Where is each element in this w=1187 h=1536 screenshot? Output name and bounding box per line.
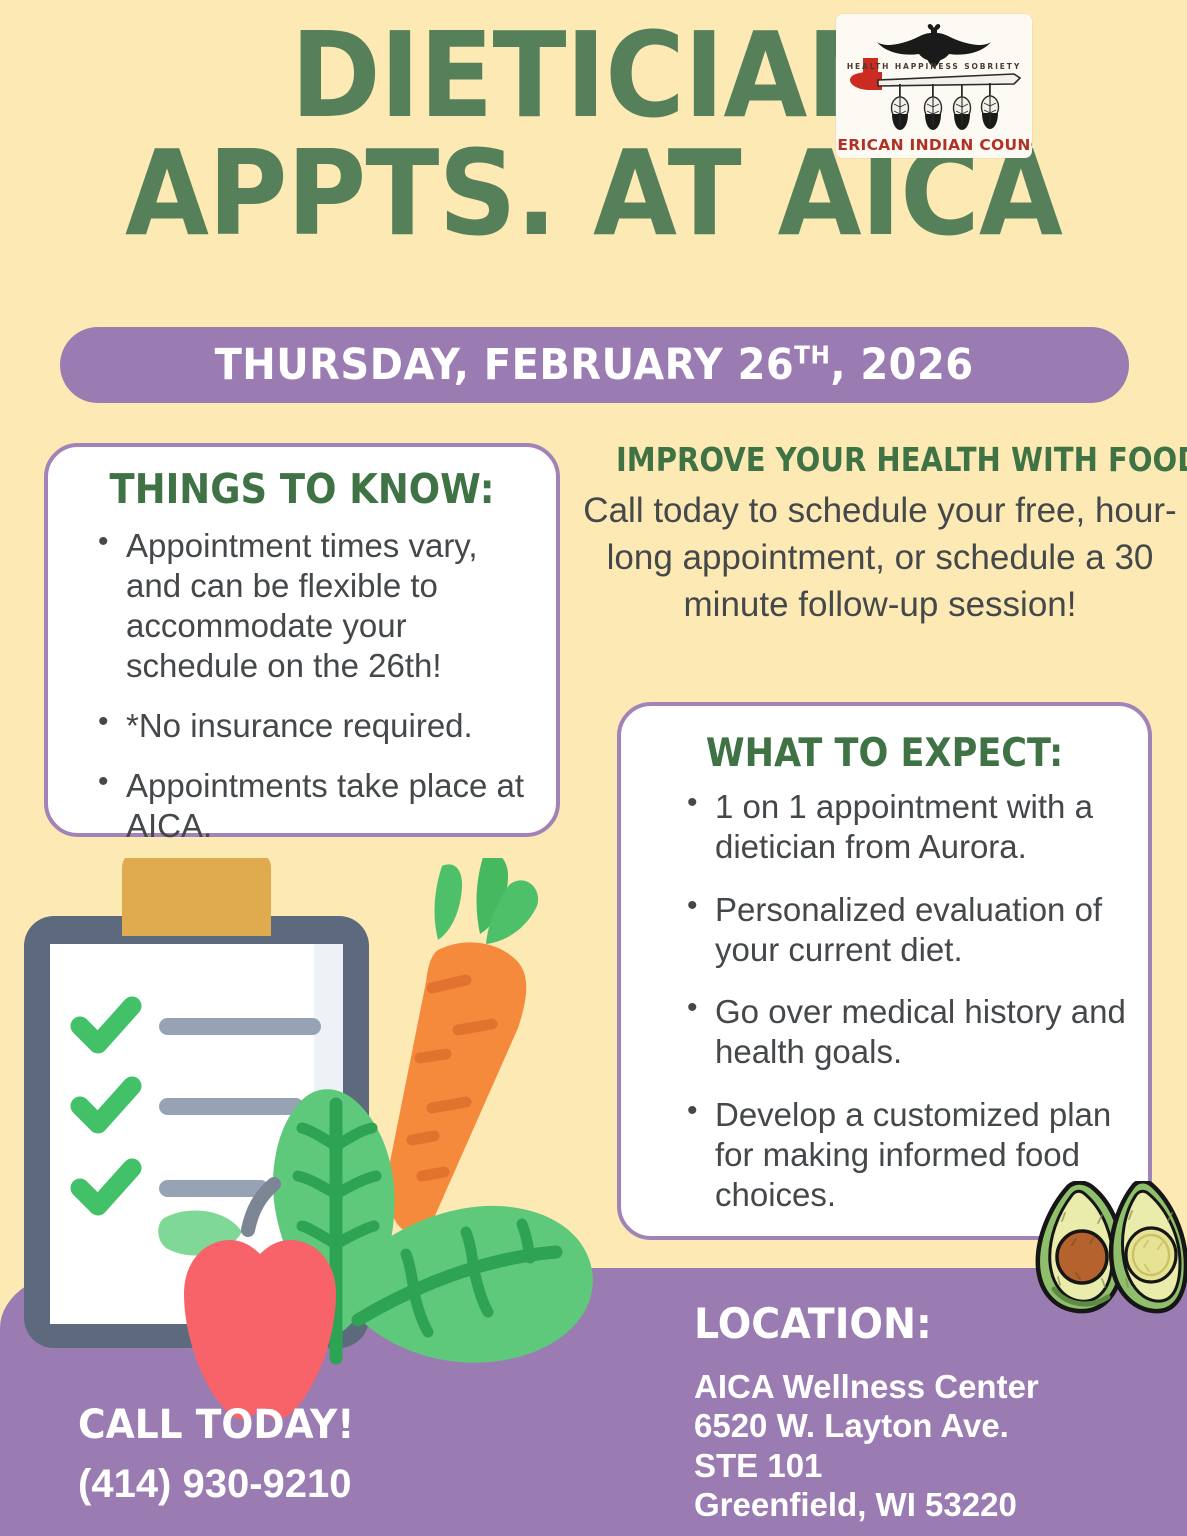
carrot-icon xyxy=(383,858,538,1233)
promo-heading: IMPROVE YOUR HEALTH WITH FOOD! xyxy=(616,443,1144,476)
location-heading: LOCATION: xyxy=(694,1303,1018,1345)
date-banner-text: THURSDAY, FEBRUARY 26TH, 2026 xyxy=(215,344,974,387)
logo-tagline-text: HEALTH HAPPINESS SOBRIETY xyxy=(847,62,1021,71)
things-to-know-heading: THINGS TO KNOW: xyxy=(73,469,530,510)
what-to-expect-card: WHAT TO EXPECT: 1 on 1 appointment with … xyxy=(617,702,1152,1240)
logo-name-text: AMERICAN INDIAN COUNCIL xyxy=(836,136,1032,154)
date-year: , 2026 xyxy=(831,340,974,390)
list-item: Appointments take place at AICA. xyxy=(86,766,534,846)
date-ordinal-suffix: TH xyxy=(795,340,831,369)
promo-body-text: Call today to schedule your free, hour-l… xyxy=(580,488,1180,629)
date-prefix: THURSDAY, FEBRUARY 26 xyxy=(215,340,795,390)
feather-icon xyxy=(892,83,999,130)
flyer-poster: HEALTH HAPPINESS SOBRIETY xyxy=(0,0,1187,1536)
call-today-block: CALL TODAY! (414) 930-9210 xyxy=(78,1404,372,1504)
date-banner: THURSDAY, FEBRUARY 26TH, 2026 xyxy=(60,327,1129,403)
list-item: *No insurance required. xyxy=(86,706,534,746)
avocado-icon xyxy=(1032,1181,1187,1321)
list-item: Appointment times vary, and can be flexi… xyxy=(86,526,534,686)
things-to-know-list: Appointment times vary, and can be flexi… xyxy=(86,526,534,845)
location-line: Greenfield, WI 53220 xyxy=(694,1485,1039,1524)
food-illustration xyxy=(14,858,624,1428)
promo-block: IMPROVE YOUR HEALTH WITH FOOD! Call toda… xyxy=(580,443,1180,629)
what-to-expect-list: 1 on 1 appointment with a dietician from… xyxy=(675,787,1134,1215)
phone-number[interactable]: (414) 930-9210 xyxy=(78,1464,372,1504)
list-item: Go over medical history and health goals… xyxy=(675,992,1134,1073)
location-line: STE 101 xyxy=(694,1446,1039,1485)
avocado-illustration xyxy=(1032,1181,1187,1321)
location-block: LOCATION: AICA Wellness Center 6520 W. L… xyxy=(694,1303,1039,1524)
american-indian-council-logo: HEALTH HAPPINESS SOBRIETY xyxy=(836,14,1032,158)
logo-artwork: HEALTH HAPPINESS SOBRIETY xyxy=(836,14,1032,158)
list-item: 1 on 1 appointment with a dietician from… xyxy=(675,787,1134,868)
call-today-heading: CALL TODAY! xyxy=(78,1404,354,1446)
what-to-expect-heading: WHAT TO EXPECT: xyxy=(647,734,1121,773)
things-to-know-card: THINGS TO KNOW: Appointment times vary, … xyxy=(44,443,560,837)
location-line: 6520 W. Layton Ave. xyxy=(694,1406,1039,1445)
list-item: Personalized evaluation of your current … xyxy=(675,890,1134,971)
location-line: AICA Wellness Center xyxy=(694,1367,1039,1406)
